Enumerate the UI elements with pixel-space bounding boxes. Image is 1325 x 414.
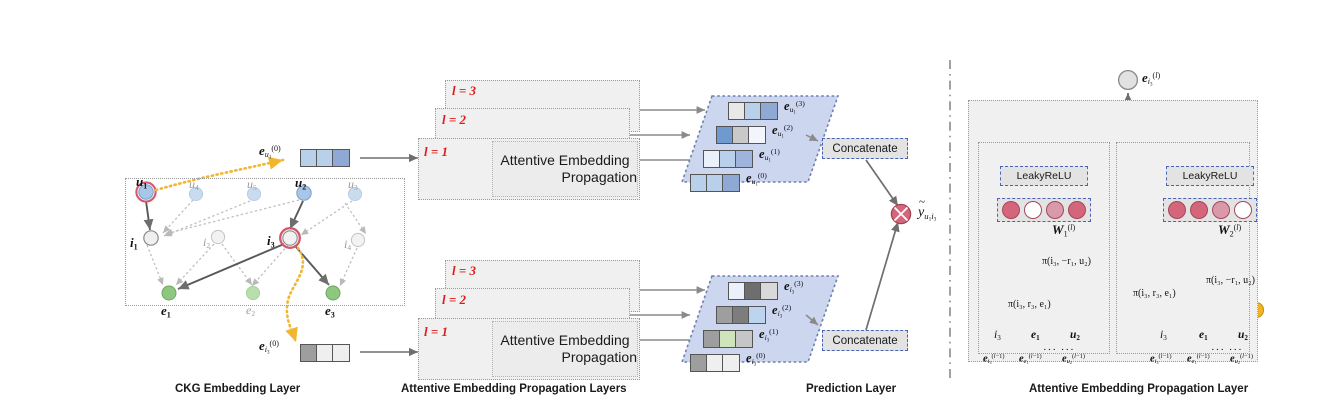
node-label-e3: e3 [325, 303, 335, 319]
node-label-i4: i4 [344, 237, 351, 252]
leaf-label-right-i3: i3 [1160, 329, 1167, 342]
weight-row-right [1163, 198, 1257, 222]
embedding-bar-eu1-3 [728, 102, 778, 120]
aep-module-user[interactable]: Attentive Embedding Propagation [492, 141, 638, 197]
connector-concat-top-to-score [866, 160, 898, 206]
label-eu1-3: eu1(3) [784, 99, 805, 116]
attention-label-left-b: π(i₃, r₃, e₁) [1008, 299, 1051, 310]
level-label-item-2: l = 2 [442, 292, 466, 308]
label-eu1-0: eu1(0) [259, 143, 281, 161]
leaf-emb-left-i3: ei3(l−1) [983, 353, 1005, 365]
label-eu1-1: eu1(1) [759, 147, 780, 164]
label-ei3-0-stack: ei3(0) [746, 351, 765, 368]
embedding-bar-ei3-0 [300, 344, 350, 362]
level-label-item-1: l = 1 [424, 324, 448, 340]
label-aep-output: ei3(l) [1142, 70, 1160, 88]
node-label-u4: u4 [189, 177, 199, 192]
level-label-user-3: l = 3 [452, 83, 476, 99]
prediction-score-node [891, 204, 910, 223]
leaf-label-right-e1: e1 [1199, 329, 1208, 342]
leaf-label-right-u2: u2 [1238, 329, 1248, 342]
caption-ckg-embedding-layer: CKG Embedding Layer [175, 383, 300, 395]
level-label-user-2: l = 2 [442, 112, 466, 128]
label-ei3-3: ei3(3) [784, 279, 803, 296]
concatenate-button-bottom[interactable]: Concatenate [822, 330, 908, 351]
embedding-bar-eu1-1 [703, 150, 753, 168]
weight-row-left [997, 198, 1091, 222]
label-ei3-0: ei3(0) [259, 338, 279, 356]
leaf-emb-right-i3: ei3(l−1) [1150, 353, 1172, 365]
node-label-i1: i1 [130, 235, 138, 251]
aep-module-user-line2: Propagation [561, 169, 637, 187]
embedding-bar-eu1-0 [300, 149, 350, 167]
leaf-label-left-u2: u2 [1070, 329, 1080, 342]
leaf-ellipsis-right: ··· ··· [1211, 344, 1243, 356]
embedding-bar-eu1-2 [716, 126, 766, 144]
label-W2: W2(l) [1218, 222, 1241, 238]
node-label-u1: u1 [136, 174, 147, 190]
embedding-bar-ei3-3 [728, 282, 778, 300]
node-label-i2: i2 [203, 235, 210, 250]
leaf-label-left-i3: i3 [994, 329, 1001, 342]
label-W1: W1(l) [1052, 222, 1075, 238]
weight-cell [1068, 201, 1086, 219]
prediction-output-label: y~u1i3 [918, 205, 936, 222]
leakyrelu-box-right[interactable]: LeakyReLU [1166, 166, 1254, 186]
leaf-emb-right-e1: ee1(l−1) [1187, 353, 1210, 365]
embedding-bar-ei3-2 [716, 306, 766, 324]
label-eu1-2: eu1(2) [772, 123, 793, 140]
node-label-u3: u3 [348, 177, 358, 192]
aep-module-user-line1: Attentive Embedding [500, 152, 629, 170]
weight-cell [1190, 201, 1208, 219]
label-ei3-1: ei3(1) [759, 327, 778, 344]
level-label-item-3: l = 3 [452, 263, 476, 279]
label-ei3-2: ei3(2) [772, 303, 791, 320]
embedding-bar-ei3-1 [703, 330, 753, 348]
attention-label-left-a: π(i₃, −r₁, u₂) [1042, 256, 1091, 267]
weight-cell [1212, 201, 1230, 219]
node-label-i3: i3 [267, 233, 275, 249]
connector-concat-bottom-to-score [866, 222, 898, 330]
aep-module-item[interactable]: Attentive Embedding Propagation [492, 321, 638, 377]
weight-cell [1046, 201, 1064, 219]
weight-cell [1168, 201, 1186, 219]
node-label-u5: u5 [247, 177, 257, 192]
node-label-u2: u2 [295, 175, 306, 191]
leaf-label-left-e1: e1 [1031, 329, 1040, 342]
node-label-e2: e2 [246, 303, 255, 318]
weight-cell [1002, 201, 1020, 219]
level-label-user-1: l = 1 [424, 144, 448, 160]
attention-label-right-b: π(i₃, r₃, e₁) [1133, 288, 1176, 299]
node-label-e1: e1 [161, 303, 171, 319]
concatenate-button-top[interactable]: Concatenate [822, 138, 908, 159]
weight-cell [1024, 201, 1042, 219]
leaf-emb-left-e1: ee1(l−1) [1019, 353, 1042, 365]
leakyrelu-box-left[interactable]: LeakyReLU [1000, 166, 1088, 186]
ckg-graph-panel [125, 178, 405, 306]
figure-canvas: Attentive Embedding Propagation Attentiv… [0, 0, 1325, 414]
caption-aep-layer: Attentive Embedding Propagation Layer [1029, 383, 1248, 395]
weight-cell [1234, 201, 1252, 219]
label-eu1-0-stack: eu1(0) [746, 171, 767, 188]
caption-prediction-layer: Prediction Layer [806, 383, 896, 395]
attention-label-right-a: π(i₃, −r₁, u₂) [1206, 275, 1255, 286]
embedding-bar-eu1-0-stack [690, 174, 740, 192]
embedding-bar-ei3-0-stack [690, 354, 740, 372]
leaf-ellipsis-left: ··· ··· [1043, 344, 1075, 356]
caption-aep-layers: Attentive Embedding Propagation Layers [401, 383, 627, 395]
aep-module-item-line1: Attentive Embedding [500, 332, 629, 350]
aep-output-node [1119, 71, 1138, 90]
aep-module-item-line2: Propagation [561, 349, 637, 367]
